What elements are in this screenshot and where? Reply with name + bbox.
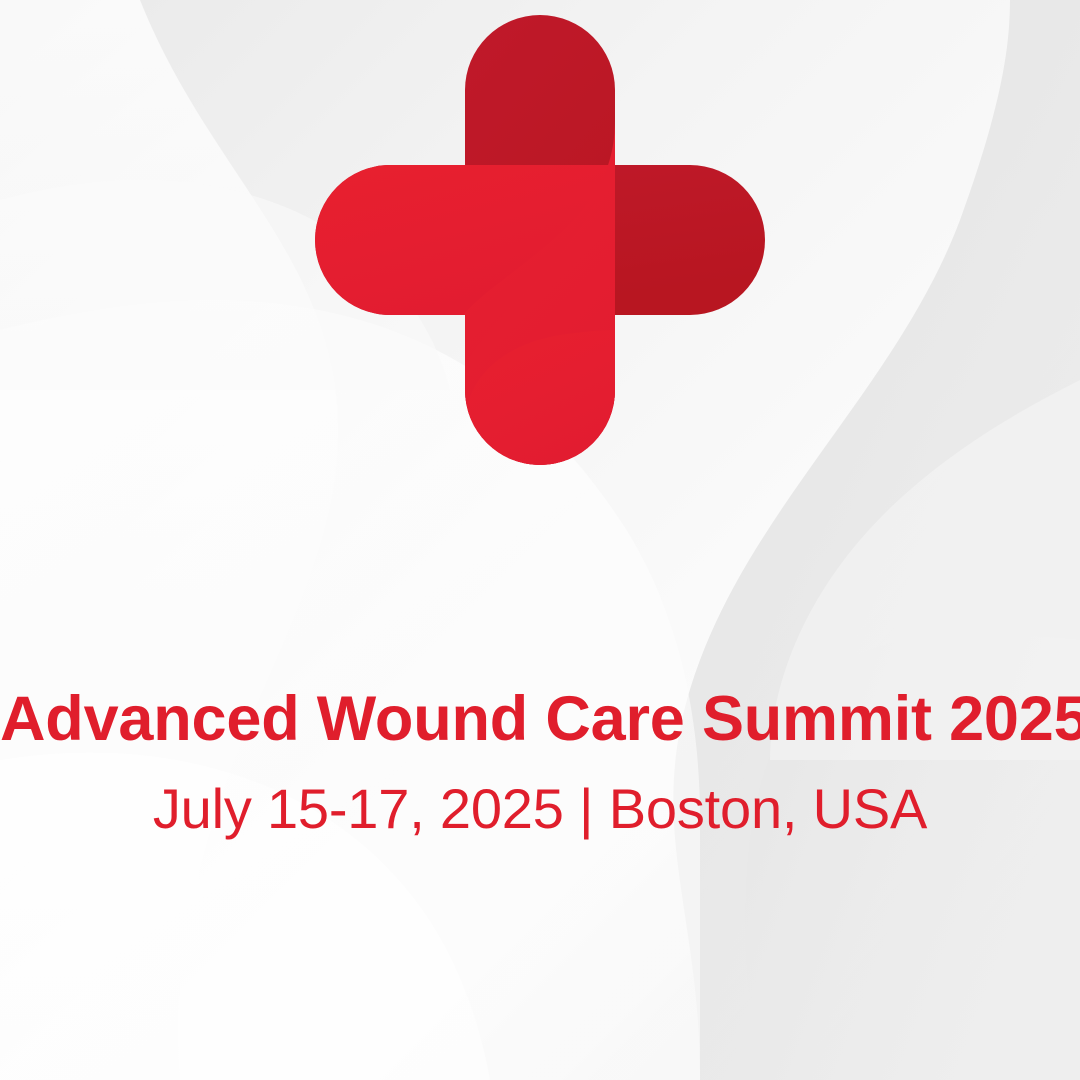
banner-content: Advanced Wound Care Summit 2025 July 15-…: [0, 0, 1080, 1080]
medical-cross-icon: [0, 0, 1080, 660]
cross-swoosh-group: [315, 120, 615, 480]
event-date-location: July 15-17, 2025 | Boston, USA: [0, 781, 1080, 837]
event-text-block: Advanced Wound Care Summit 2025 July 15-…: [0, 688, 1080, 837]
event-banner: Advanced Wound Care Summit 2025 July 15-…: [0, 0, 1080, 1080]
page-title: Advanced Wound Care Summit 2025: [0, 688, 1080, 751]
logo-container: [0, 0, 1080, 660]
